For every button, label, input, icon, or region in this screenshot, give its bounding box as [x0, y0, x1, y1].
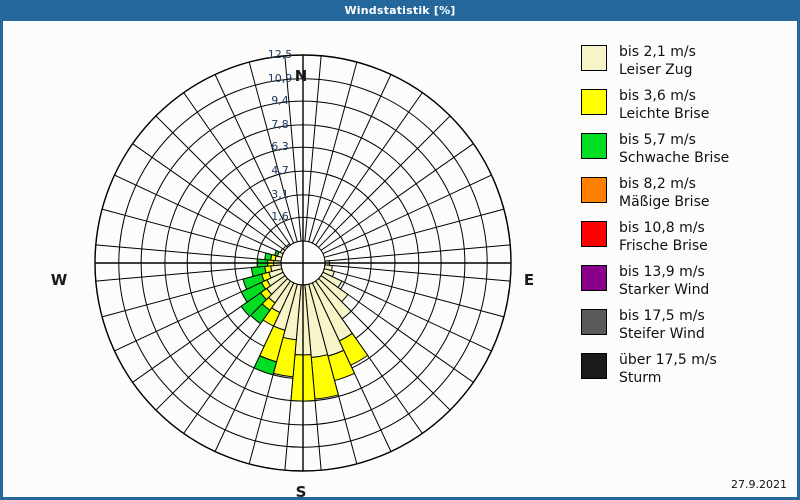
- legend-speed-range: bis 5,7 m/s: [619, 131, 729, 149]
- legend-label: bis 13,9 m/sStarker Wind: [619, 263, 709, 300]
- legend-item: über 17,5 m/sSturm: [581, 351, 791, 388]
- windrose-container: N S W E 1,63,14,76,37,89,410,912,5: [3, 21, 573, 497]
- grid-spoke: [312, 74, 391, 243]
- legend-color-swatch: [581, 45, 607, 71]
- window-title: Windstatistik [%]: [344, 4, 455, 17]
- radial-tick-label: 4,7: [257, 164, 303, 177]
- grid-spoke: [319, 116, 451, 248]
- grid-spoke: [323, 175, 492, 254]
- legend-color-swatch: [581, 89, 607, 115]
- window-title-bar: Windstatistik [%]: [0, 0, 800, 20]
- legend-color-swatch: [581, 133, 607, 159]
- compass-label-south: S: [281, 483, 321, 498]
- legend-color-swatch: [581, 177, 607, 203]
- radial-tick-label: 12,5: [257, 48, 303, 61]
- legend-beaufort-name: Starker Wind: [619, 281, 709, 299]
- compass-label-west: W: [39, 271, 79, 289]
- compass-label-east: E: [509, 271, 549, 289]
- legend-item: bis 10,8 m/sFrische Brise: [581, 219, 791, 256]
- legend-speed-range: bis 17,5 m/s: [619, 307, 705, 325]
- legend-beaufort-name: Mäßige Brise: [619, 193, 709, 211]
- legend-label: bis 17,5 m/sSteifer Wind: [619, 307, 705, 344]
- legend-beaufort-name: Leichte Brise: [619, 105, 709, 123]
- legend-beaufort-name: Steifer Wind: [619, 325, 705, 343]
- legend-speed-range: bis 8,2 m/s: [619, 175, 709, 193]
- legend-speed-range: bis 2,1 m/s: [619, 43, 696, 61]
- legend-speed-range: bis 13,9 m/s: [619, 263, 709, 281]
- radial-tick-label: 7,8: [257, 118, 303, 131]
- legend-label: bis 10,8 m/sFrische Brise: [619, 219, 708, 256]
- legend-item: bis 3,6 m/sLeichte Brise: [581, 87, 791, 124]
- date-stamp: 27.9.2021: [731, 478, 787, 491]
- legend: bis 2,1 m/sLeiser Zugbis 3,6 m/sLeichte …: [581, 43, 791, 395]
- legend-color-swatch: [581, 353, 607, 379]
- chart-canvas: N S W E 1,63,14,76,37,89,410,912,5 bis 2…: [2, 20, 798, 498]
- grid-spoke: [102, 209, 282, 257]
- window-root: Windstatistik [%] N S W E 1,63,14,76,37,…: [0, 0, 800, 500]
- legend-item: bis 17,5 m/sSteifer Wind: [581, 307, 791, 344]
- legend-speed-range: bis 10,8 m/s: [619, 219, 708, 237]
- legend-beaufort-name: Sturm: [619, 369, 717, 387]
- radial-tick-label: 3,1: [257, 188, 303, 201]
- legend-label: bis 8,2 m/sMäßige Brise: [619, 175, 709, 212]
- radial-tick-label: 1,6: [257, 210, 303, 223]
- radial-tick-label: 10,9: [257, 72, 303, 85]
- legend-color-swatch: [581, 221, 607, 247]
- legend-item: bis 8,2 m/sMäßige Brise: [581, 175, 791, 212]
- legend-label: bis 3,6 m/sLeichte Brise: [619, 87, 709, 124]
- grid-spoke: [324, 269, 504, 317]
- legend-item: bis 5,7 m/sSchwache Brise: [581, 131, 791, 168]
- legend-item: bis 13,9 m/sStarker Wind: [581, 263, 791, 300]
- windrose-petal-segment: [286, 244, 290, 248]
- legend-item: bis 2,1 m/sLeiser Zug: [581, 43, 791, 80]
- radial-tick-label: 6,3: [257, 140, 303, 153]
- grid-spoke: [156, 116, 288, 248]
- legend-beaufort-name: Frische Brise: [619, 237, 708, 255]
- legend-speed-range: bis 3,6 m/s: [619, 87, 709, 105]
- legend-speed-range: über 17,5 m/s: [619, 351, 717, 369]
- legend-label: über 17,5 m/sSturm: [619, 351, 717, 388]
- legend-beaufort-name: Schwache Brise: [619, 149, 729, 167]
- legend-label: bis 5,7 m/sSchwache Brise: [619, 131, 729, 168]
- grid-spoke: [324, 209, 504, 257]
- windrose-petal-segment: [265, 253, 272, 260]
- legend-beaufort-name: Leiser Zug: [619, 61, 696, 79]
- grid-spoke: [309, 62, 357, 242]
- radial-tick-label: 9,4: [257, 94, 303, 107]
- legend-label: bis 2,1 m/sLeiser Zug: [619, 43, 696, 80]
- windrose-svg: [3, 21, 573, 497]
- legend-color-swatch: [581, 265, 607, 291]
- legend-color-swatch: [581, 309, 607, 335]
